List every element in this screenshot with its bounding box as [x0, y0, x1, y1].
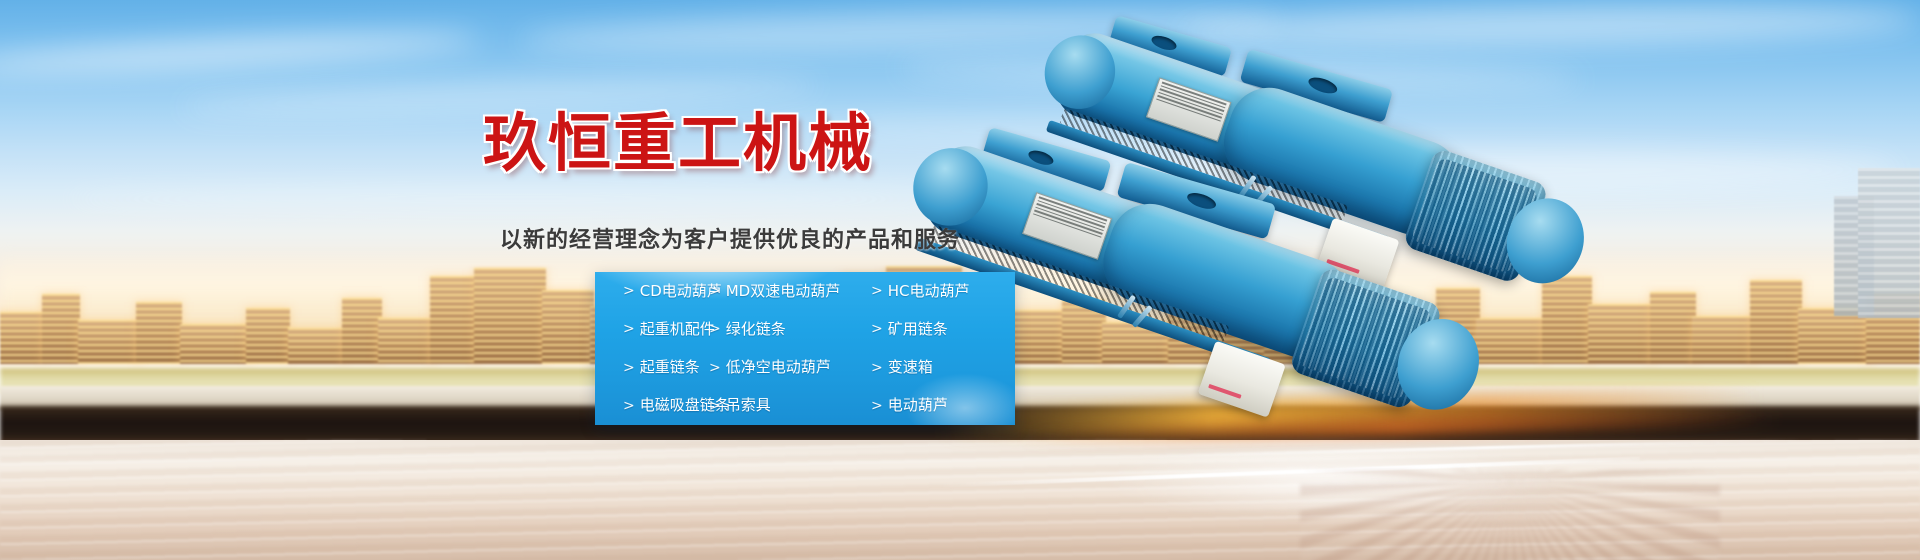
product-link-label: HC电动葫芦: [888, 284, 970, 299]
product-link-crane-parts[interactable]: > 起重机配件: [595, 322, 705, 337]
chevron-right-icon: >: [871, 361, 883, 375]
chevron-right-icon: >: [871, 284, 883, 298]
chevron-right-icon: >: [623, 399, 635, 413]
product-link-magnetic-chain[interactable]: > 电磁吸盘链条: [595, 398, 705, 413]
chevron-right-icon: >: [623, 322, 635, 336]
product-link-label: 电动葫芦: [888, 398, 948, 413]
chevron-right-icon: >: [623, 284, 635, 298]
chevron-right-icon: >: [709, 399, 721, 413]
product-link-label: 起重机配件: [640, 322, 715, 337]
page-subtitle: 以新的经营理念为客户提供优良的产品和服务: [500, 222, 960, 254]
product-links-panel: > CD电动葫芦 > 起重机配件 > 起重链条 > 电磁吸盘链条: [595, 272, 1015, 425]
product-link-label: MD双速电动葫芦: [726, 284, 841, 299]
product-link-mining-chain[interactable]: > 矿用链条: [847, 322, 1015, 337]
product-link-label: 矿用链条: [888, 322, 948, 337]
product-link-lifting-chain[interactable]: > 起重链条: [595, 360, 705, 375]
page-title: 玖恒重工机械: [483, 112, 873, 175]
product-link-label: 吊索具: [726, 398, 771, 413]
cloud-wisp: [60, 190, 960, 208]
product-link-label: 变速箱: [888, 360, 933, 375]
chevron-right-icon: >: [871, 322, 883, 336]
chevron-right-icon: >: [623, 361, 635, 375]
product-link-label: 起重链条: [640, 360, 700, 375]
product-link-hc-hoist[interactable]: > HC电动葫芦: [847, 284, 1015, 299]
chevron-right-icon: >: [709, 284, 721, 298]
product-link-slings[interactable]: > 吊索具: [705, 398, 847, 413]
product-link-label: 绿化链条: [726, 322, 786, 337]
product-link-gearbox[interactable]: > 变速箱: [847, 360, 1015, 375]
product-link-low-headroom-hoist[interactable]: > 低净空电动葫芦: [705, 360, 847, 375]
promo-banner: 玖恒重工机械 以新的经营理念为客户提供优良的产品和服务 > CD电动葫芦 > 起…: [0, 0, 1920, 560]
product-link-cd-hoist[interactable]: > CD电动葫芦: [595, 284, 705, 299]
product-link-label: 低净空电动葫芦: [726, 360, 831, 375]
product-link-md-hoist[interactable]: > MD双速电动葫芦: [705, 284, 847, 299]
chevron-right-icon: >: [871, 399, 883, 413]
chevron-right-icon: >: [709, 322, 721, 336]
product-link-electric-hoist[interactable]: > 电动葫芦: [847, 398, 1015, 413]
product-link-green-chain[interactable]: > 绿化链条: [705, 322, 847, 337]
chevron-right-icon: >: [709, 361, 721, 375]
right-edge-building: [1858, 168, 1920, 318]
product-links-grid: > CD电动葫芦 > 起重机配件 > 起重链条 > 电磁吸盘链条: [595, 272, 1015, 425]
